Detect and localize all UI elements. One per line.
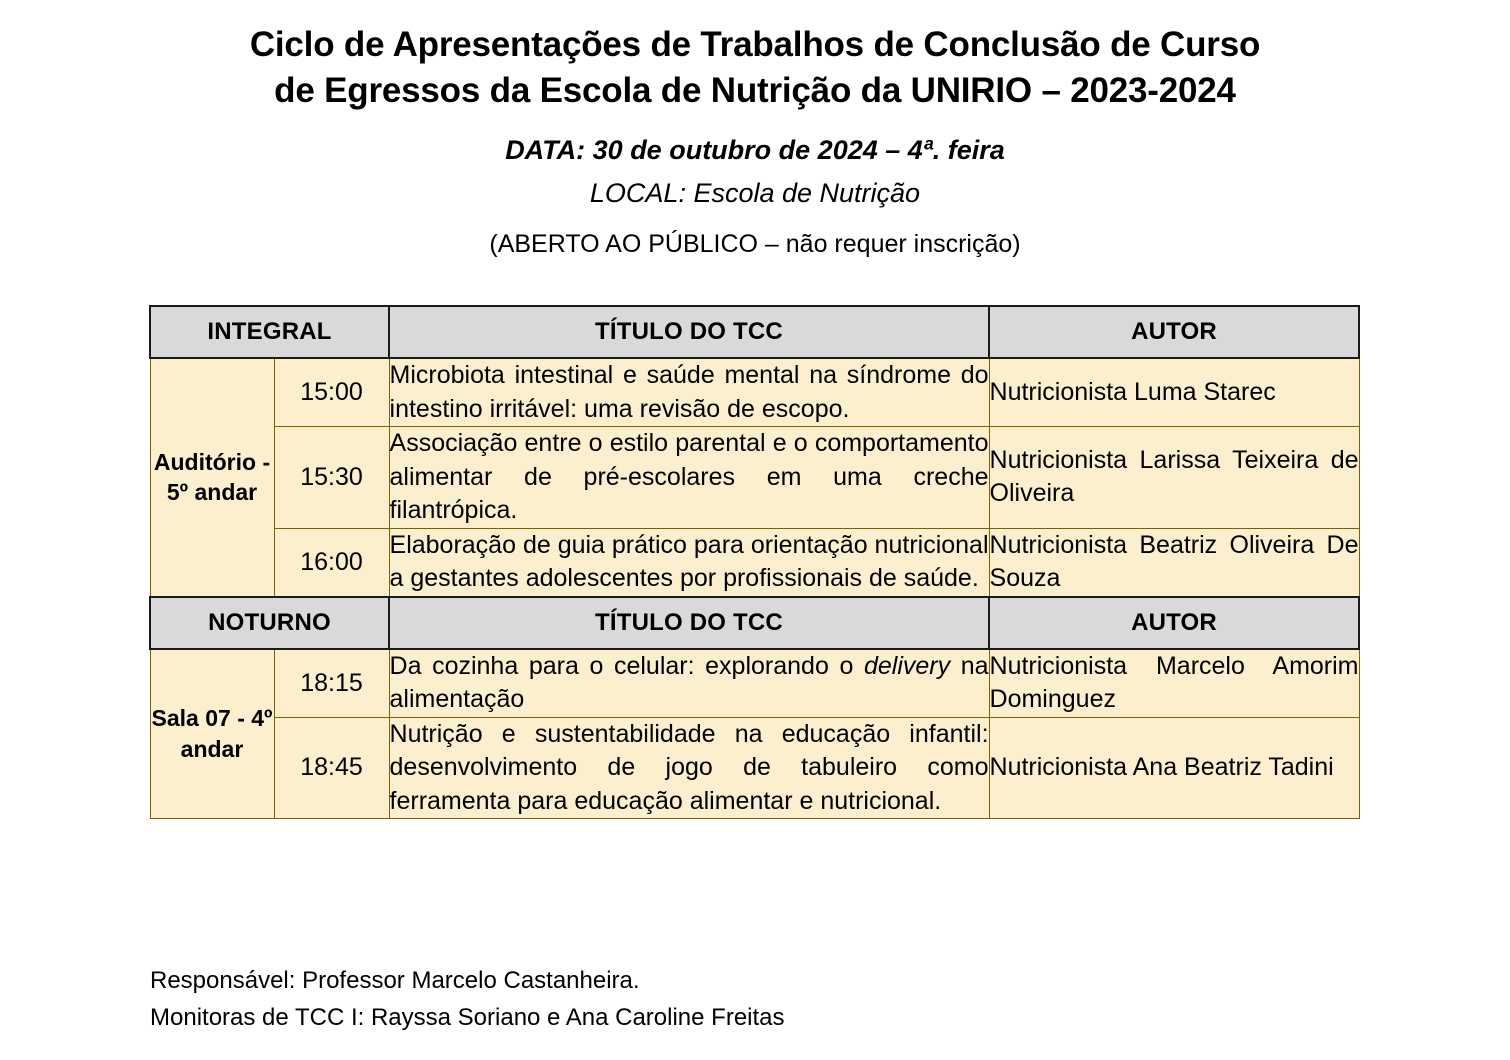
- room-label-noturno: Sala 07 - 4º andar: [150, 649, 274, 819]
- event-access-note: (ABERTO AO PÚBLICO – não requer inscriçã…: [0, 228, 1510, 260]
- section-header-integral: INTEGRAL TÍTULO DO TCC AUTOR: [150, 306, 1359, 358]
- session-title: Elaboração de guia prático para orientaç…: [389, 528, 989, 597]
- column-header-title-integral: TÍTULO DO TCC: [389, 306, 989, 358]
- schedule-table: INTEGRAL TÍTULO DO TCC AUTOR Auditório -…: [149, 305, 1360, 819]
- event-date: DATA: 30 de outubro de 2024 – 4ª. feira: [0, 133, 1510, 168]
- session-time: 18:45: [274, 717, 389, 819]
- session-time: 16:00: [274, 528, 389, 597]
- session-time: 15:30: [274, 427, 389, 529]
- page-title-line-2: de Egressos da Escola de Nutrição da UNI…: [0, 68, 1510, 114]
- room-label-integral: Auditório - 5º andar: [150, 358, 274, 597]
- session-title: Associação entre o estilo parental e o c…: [389, 427, 989, 529]
- document-page: Ciclo de Apresentações de Trabalhos de C…: [0, 0, 1510, 1060]
- section-shift-label-integral: INTEGRAL: [150, 306, 389, 358]
- table-row: 16:00 Elaboração de guia prático para or…: [150, 528, 1359, 597]
- footer-responsible: Responsável: Professor Marcelo Castanhei…: [150, 962, 785, 999]
- schedule-table-container: INTEGRAL TÍTULO DO TCC AUTOR Auditório -…: [149, 305, 1358, 819]
- table-row: Sala 07 - 4º andar 18:15 Da cozinha para…: [150, 649, 1359, 718]
- session-title-pre: Da cozinha para o celular: explorando o: [390, 652, 864, 680]
- session-time: 18:15: [274, 649, 389, 718]
- section-shift-label-noturno: NOTURNO: [150, 597, 389, 649]
- heading-block: Ciclo de Apresentações de Trabalhos de C…: [0, 0, 1510, 260]
- session-title: Microbiota intestinal e saúde mental na …: [389, 358, 989, 427]
- footer-monitors: Monitoras de TCC I: Rayssa Soriano e Ana…: [150, 999, 785, 1036]
- session-author: Nutricionista Beatriz Oliveira De Souza: [989, 528, 1359, 597]
- session-title-emphasis: delivery: [864, 652, 950, 680]
- session-time: 15:00: [274, 358, 389, 427]
- column-header-author-integral: AUTOR: [989, 306, 1359, 358]
- session-title: Nutrição e sustentabilidade na educação …: [389, 717, 989, 819]
- page-title: Ciclo de Apresentações de Trabalhos de C…: [0, 22, 1510, 113]
- session-author: Nutricionista Larissa Teixeira de Olivei…: [989, 427, 1359, 529]
- column-header-author-noturno: AUTOR: [989, 597, 1359, 649]
- column-header-title-noturno: TÍTULO DO TCC: [389, 597, 989, 649]
- table-row: 15:30 Associação entre o estilo parental…: [150, 427, 1359, 529]
- session-title: Da cozinha para o celular: explorando o …: [389, 649, 989, 718]
- table-row: Auditório - 5º andar 15:00 Microbiota in…: [150, 358, 1359, 427]
- event-location: LOCAL: Escola de Nutrição: [0, 176, 1510, 211]
- footer-block: Responsável: Professor Marcelo Castanhei…: [150, 962, 785, 1036]
- page-title-line-1: Ciclo de Apresentações de Trabalhos de C…: [0, 22, 1510, 68]
- table-row: 18:45 Nutrição e sustentabilidade na edu…: [150, 717, 1359, 819]
- session-author: Nutricionista Ana Beatriz Tadini: [989, 717, 1359, 819]
- session-author: Nutricionista Luma Starec: [989, 358, 1359, 427]
- session-author: Nutricionista Marcelo Amorim Dominguez: [989, 649, 1359, 718]
- section-header-noturno: NOTURNO TÍTULO DO TCC AUTOR: [150, 597, 1359, 649]
